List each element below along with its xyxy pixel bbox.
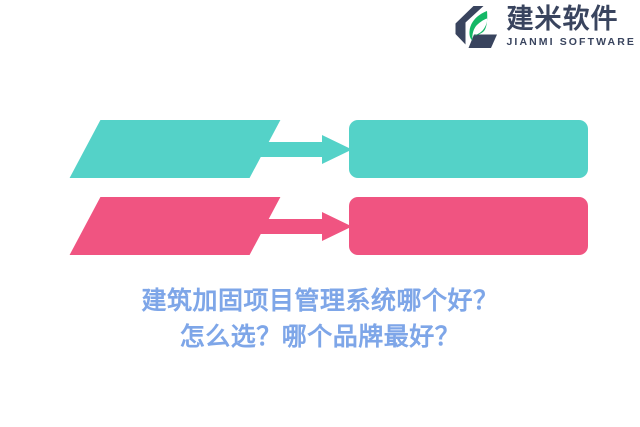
flow-bar-teal <box>349 120 588 178</box>
flow-row-teal <box>0 120 640 180</box>
brand-logo-text: 建米软件 JIANMI SOFTWARE <box>506 6 636 48</box>
headline-line-2: 怎么选？哪个品牌最好？ <box>0 319 640 355</box>
headline-line-1: 建筑加固项目管理系统哪个好？ <box>0 283 640 319</box>
brand-name-cn: 建米软件 <box>506 6 618 33</box>
flow-bar-pink <box>349 197 588 255</box>
flow-parallelogram-pink <box>70 197 281 255</box>
flow-row-pink <box>0 197 640 257</box>
page-canvas: 建米软件 JIANMI SOFTWARE 建筑加固项目管理系统哪个好？ 怎么选？… <box>0 0 640 427</box>
leaf-shield-logo-icon <box>453 4 499 50</box>
flow-arrow-right-pink <box>256 212 352 241</box>
flow-arrow-right-teal <box>256 135 352 164</box>
headline: 建筑加固项目管理系统哪个好？ 怎么选？哪个品牌最好？ <box>0 283 640 355</box>
flow-parallelogram-teal <box>70 120 281 178</box>
brand-logo: 建米软件 JIANMI SOFTWARE <box>453 4 636 50</box>
brand-name-en: JIANMI SOFTWARE <box>506 37 636 48</box>
